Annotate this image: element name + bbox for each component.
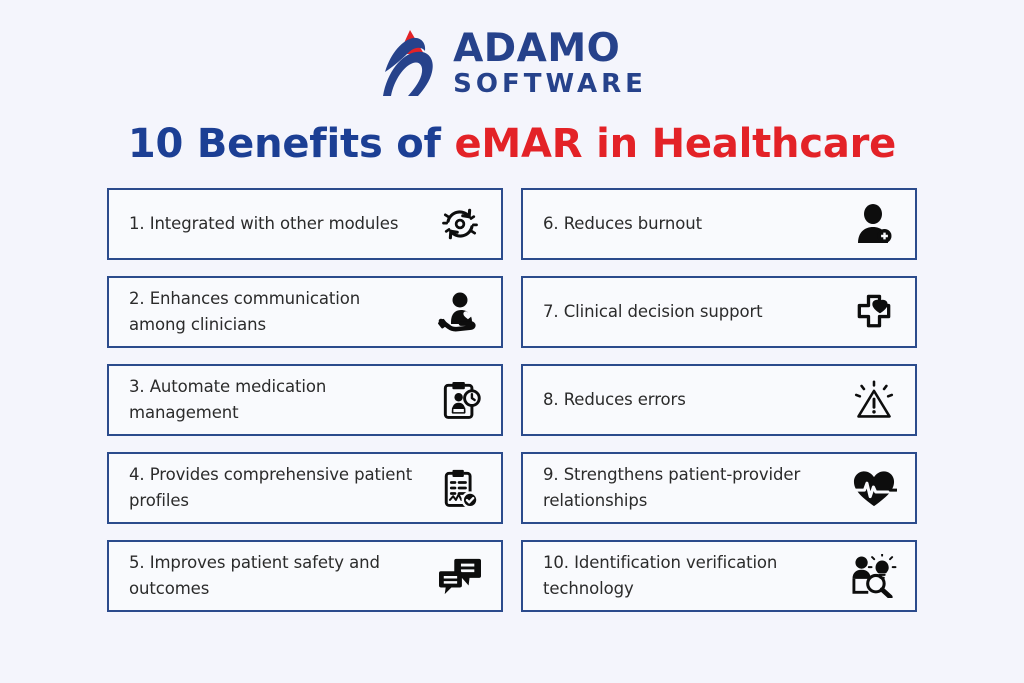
infographic-page: ADAMO SOFTWARE 10 Benefits of eMAR in He… bbox=[0, 0, 1024, 683]
benefit-card-6-label: 6. Reduces burnout bbox=[543, 211, 702, 237]
benefit-card-2-label: 2. Enhances communication among clinicia… bbox=[129, 286, 414, 337]
benefit-card-7-label: 7. Clinical decision support bbox=[543, 299, 763, 325]
benefit-card-8-label: 8. Reduces errors bbox=[543, 387, 686, 413]
clinician-person-icon bbox=[851, 201, 897, 247]
adamo-arch-mark-icon bbox=[377, 26, 439, 100]
benefit-card-7[interactable]: 7. Clinical decision support bbox=[521, 276, 917, 348]
hand-care-person-icon bbox=[437, 289, 483, 335]
benefit-card-10[interactable]: 10. Identification verification technolo… bbox=[521, 540, 917, 612]
benefit-card-5-label: 5. Improves patient safety and outcomes bbox=[129, 550, 414, 601]
page-title: 10 Benefits of eMAR in Healthcare bbox=[0, 121, 1024, 167]
benefit-card-4[interactable]: 4. Provides comprehensive patient profil… bbox=[107, 452, 503, 524]
clipboard-check-icon bbox=[437, 465, 483, 511]
benefit-card-4-label: 4. Provides comprehensive patient profil… bbox=[129, 462, 414, 513]
person-magnifier-bulb-icon bbox=[851, 553, 897, 599]
chat-bubbles-icon bbox=[437, 553, 483, 599]
benefit-card-9-label: 9. Strengthens patient-provider relation… bbox=[543, 462, 828, 513]
benefit-card-3[interactable]: 3. Automate medication management bbox=[107, 364, 503, 436]
brand-name-bottom: SOFTWARE bbox=[453, 71, 647, 97]
benefit-card-8[interactable]: 8. Reduces errors bbox=[521, 364, 917, 436]
benefit-card-1[interactable]: 1. Integrated with other modules bbox=[107, 188, 503, 260]
benefit-card-5[interactable]: 5. Improves patient safety and outcomes bbox=[107, 540, 503, 612]
page-title-part-red: eMAR in Healthcare bbox=[454, 121, 896, 167]
benefit-card-2[interactable]: 2. Enhances communication among clinicia… bbox=[107, 276, 503, 348]
gear-sync-icon bbox=[437, 201, 483, 247]
benefit-card-3-label: 3. Automate medication management bbox=[129, 374, 414, 425]
benefit-card-6[interactable]: 6. Reduces burnout bbox=[521, 188, 917, 260]
brand-name-top: ADAMO bbox=[453, 29, 647, 68]
benefit-card-9[interactable]: 9. Strengthens patient-provider relation… bbox=[521, 452, 917, 524]
benefit-card-10-label: 10. Identification verification technolo… bbox=[543, 550, 828, 601]
page-title-part-navy: 10 Benefits of bbox=[128, 121, 455, 167]
benefits-grid: 1. Integrated with other modules 6. Redu… bbox=[107, 188, 917, 612]
medical-cross-heart-icon bbox=[851, 289, 897, 335]
heart-pulse-icon bbox=[851, 465, 897, 511]
brand-logo: ADAMO SOFTWARE bbox=[0, 26, 1024, 100]
warning-triangle-icon bbox=[851, 377, 897, 423]
clipboard-nurse-clock-icon bbox=[437, 377, 483, 423]
brand-wordmark: ADAMO SOFTWARE bbox=[453, 29, 647, 97]
benefit-card-1-label: 1. Integrated with other modules bbox=[129, 211, 398, 237]
